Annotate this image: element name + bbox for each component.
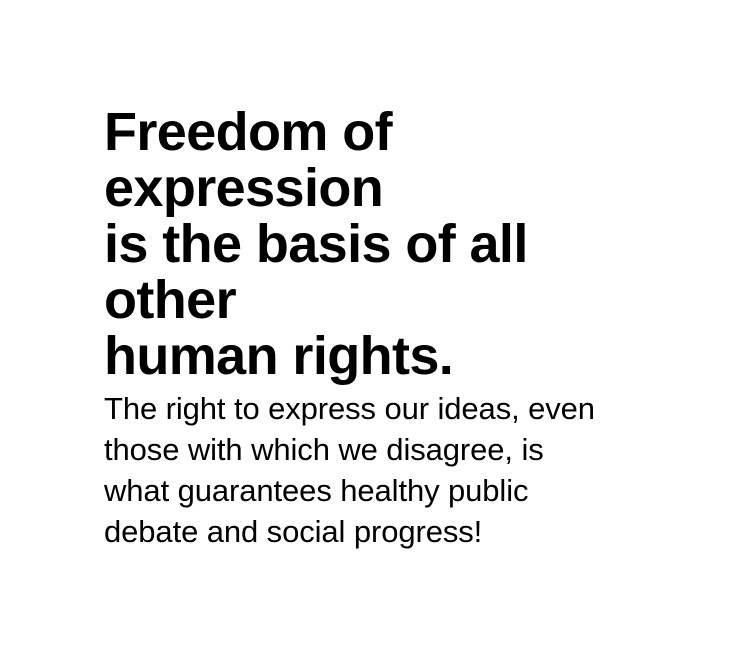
headline-text: Freedom of expression is the basis of al… bbox=[104, 104, 664, 384]
body-paragraph: The right to express our ideas, even tho… bbox=[104, 388, 664, 552]
slide-canvas: Freedom of expression is the basis of al… bbox=[0, 0, 750, 650]
